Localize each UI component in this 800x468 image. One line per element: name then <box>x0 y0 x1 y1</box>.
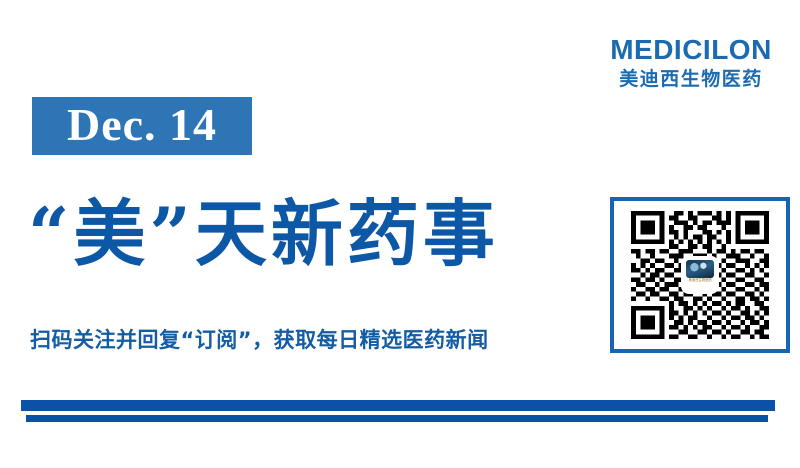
brand-wordmark: MEDICILON <box>596 36 786 64</box>
date-badge: Dec. 14 <box>32 97 252 155</box>
qr-center-logo: 美迪西生物医药 <box>683 258 717 292</box>
bottom-rule-primary <box>21 400 775 411</box>
headline-title: “美”天新药事 <box>28 186 598 282</box>
bottom-rule-secondary <box>26 415 768 422</box>
news-banner: MEDICILON 美迪西生物医药 Dec. 14 “美”天新药事 扫码关注并回… <box>0 0 800 468</box>
subscribe-instruction-text: 扫码关注并回复“订阅”，获取每日精选医药新闻 <box>30 328 590 353</box>
date-badge-label: Dec. 14 <box>67 102 217 148</box>
qr-center-logo-image <box>686 260 714 278</box>
qr-center-logo-caption: 美迪西生物医药 <box>688 279 711 283</box>
qr-code-panel[interactable]: 美迪西生物医药 <box>610 197 790 353</box>
brand-logo: MEDICILON 美迪西生物医药 <box>596 36 786 89</box>
brand-subtitle-chinese: 美迪西生物医药 <box>596 70 786 89</box>
qr-code-image[interactable]: 美迪西生物医药 <box>631 206 769 344</box>
